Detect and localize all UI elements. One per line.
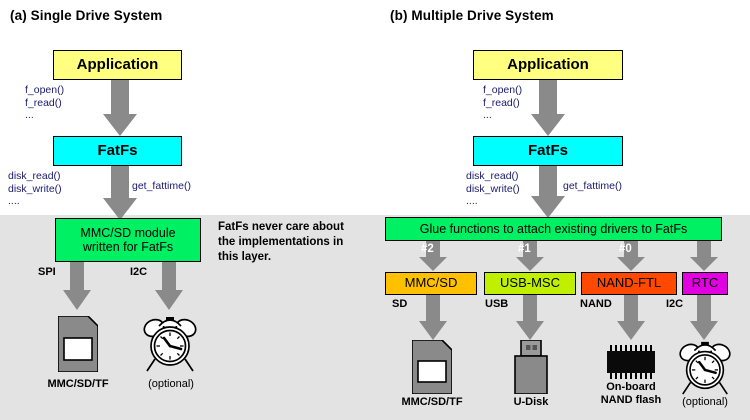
nand-chip-icon — [605, 345, 657, 379]
panel-a-device-caption-rtc: (optional) — [136, 378, 206, 391]
panel-b-device-caption-sd: MMC/SD/TF — [390, 396, 474, 409]
panel-b-device-caption-rtc: (optional) — [670, 396, 740, 409]
panel-b-bus-label-nand: NAND — [580, 298, 612, 311]
panel-b-driver-box-rtc: RTC — [682, 272, 728, 295]
panel-b-drive-number-0: #0 — [619, 243, 632, 256]
alarm-clock-icon — [143, 313, 197, 373]
panel-b-device-caption-nand: On-board NAND flash — [589, 381, 673, 407]
panel-a-arrow-app-to-fatfs — [103, 80, 137, 141]
sd-card-icon — [58, 316, 98, 372]
panel-b-fatfs-box: FatFs — [473, 136, 623, 166]
panel-a-api-app-label: f_open() f_read() ... — [25, 84, 64, 122]
panel-b-api-fattime-label: get_fattime() — [563, 180, 622, 193]
panel-b-driver-box-usbmsc: USB-MSC — [484, 272, 576, 295]
panel-b-drive-number-2: #2 — [421, 243, 434, 256]
panel-a-application-box: Application — [53, 50, 182, 80]
panel-a-arrow-spi — [63, 262, 91, 315]
panel-a-note: FatFs never care about the implementatio… — [218, 220, 368, 265]
panel-b-bus-label-i2c: I2C — [666, 298, 683, 311]
sd-card-icon — [412, 340, 452, 394]
panel-b-bus-label-sd: SD — [392, 298, 407, 311]
diagram-canvas: (a) Single Drive System Application f_op… — [0, 0, 750, 420]
panel-b-arrow-bus-usb — [516, 295, 544, 345]
panel-a-device-caption-sd: MMC/SD/TF — [38, 378, 118, 391]
panel-a-api-fattime-label: get_fattime() — [132, 180, 191, 193]
panel-a-api-disk-label: disk_read() disk_write() .... — [8, 170, 62, 208]
panel-b-driver-box-nandftl: NAND-FTL — [581, 272, 677, 295]
alarm-clock-icon — [678, 338, 732, 396]
panel-b-arrow-bus-sd — [419, 295, 447, 345]
panel-a-driver-box: MMC/SD module written for FatFs — [55, 218, 201, 262]
panel-b-api-disk-label: disk_read() disk_write() .... — [466, 170, 520, 208]
panel-b-arrow-rtc — [690, 241, 718, 276]
panel-b-bus-label-usb: USB — [485, 298, 508, 311]
panel-b-application-box: Application — [473, 50, 623, 80]
panel-b-arrow-bus-nand — [617, 295, 645, 345]
panel-a-arrow-i2c — [155, 262, 183, 315]
usb-disk-icon — [513, 340, 549, 394]
panel-a-bus-label-i2c: I2C — [130, 266, 147, 279]
panel-b-glue-box: Glue functions to attach existing driver… — [385, 217, 722, 241]
panel-b-arrow-fatfs-to-glue — [531, 166, 565, 223]
panel-b-drive-number-1: #1 — [518, 243, 531, 256]
panel-a-arrow-fatfs-to-driver — [103, 166, 137, 225]
panel-a-fatfs-box: FatFs — [53, 136, 182, 166]
panel-b-driver-box-mmcsd: MMC/SD — [385, 272, 477, 295]
panel-b-title: (b) Multiple Drive System — [390, 8, 554, 23]
panel-b-device-caption-usb: U-Disk — [496, 396, 566, 409]
panel-b-arrow-app-to-fatfs — [531, 80, 565, 141]
panel-a-bus-label-spi: SPI — [38, 266, 56, 279]
panel-b-api-app-label: f_open() f_read() ... — [483, 84, 522, 122]
panel-a-title: (a) Single Drive System — [10, 8, 162, 23]
